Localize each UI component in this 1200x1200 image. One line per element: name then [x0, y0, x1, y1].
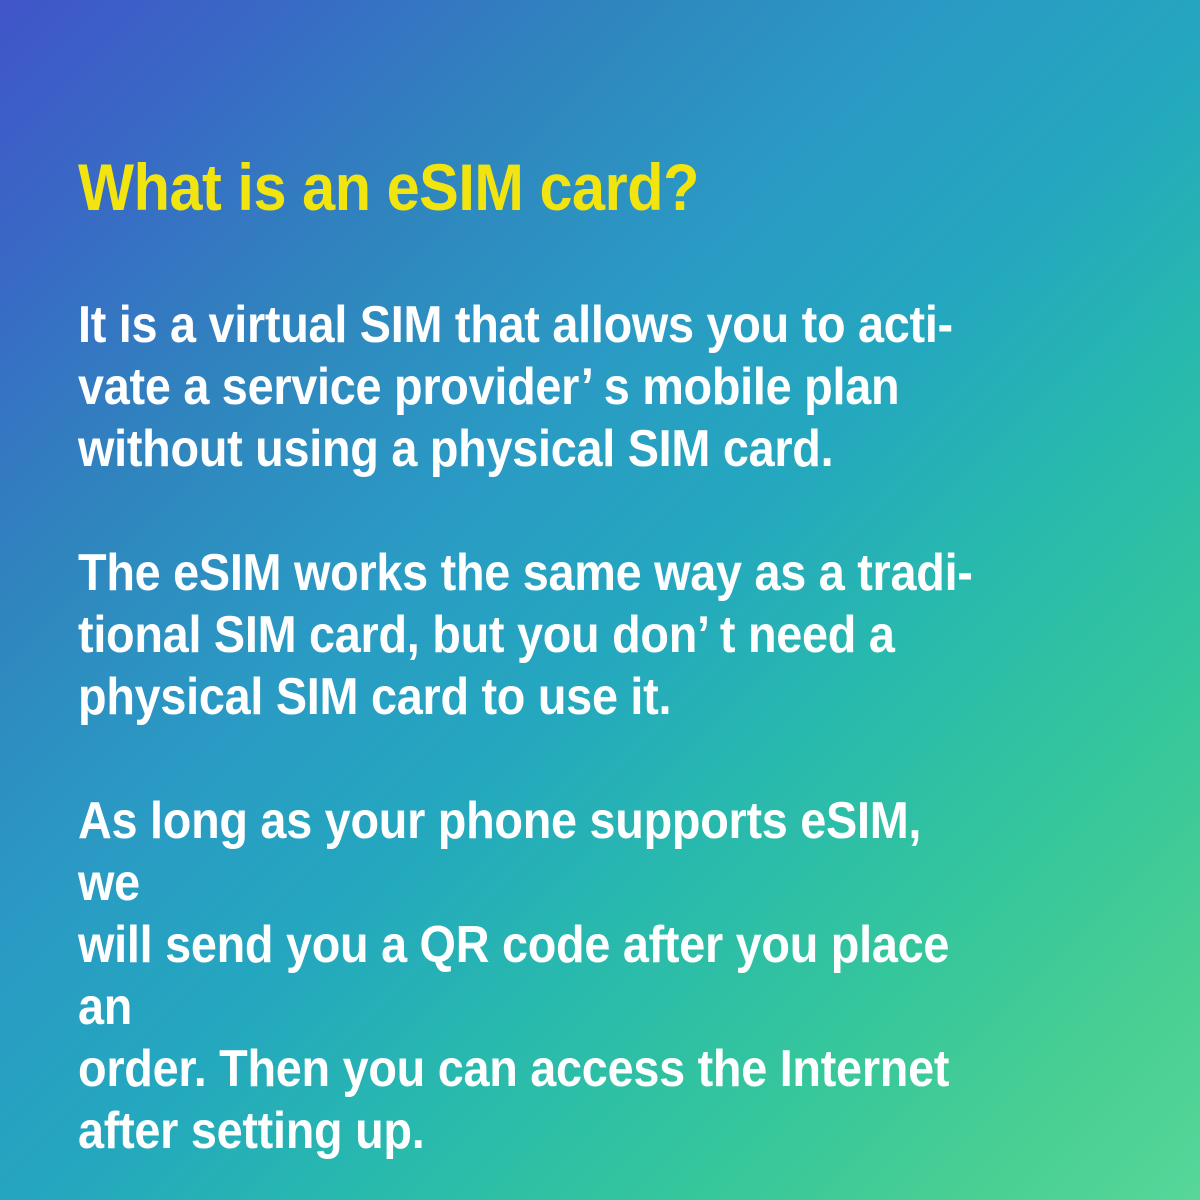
content-container: What is an eSIM card? It is a virtual SI…: [78, 148, 1088, 1162]
paragraph-definition: It is a virtual SIM that allows you to a…: [78, 294, 987, 480]
paragraph-activation: As long as your phone supports eSIM, we …: [78, 790, 987, 1162]
paragraph-how-it-works: The eSIM works the same way as a tradi- …: [78, 542, 987, 728]
esim-info-card: What is an eSIM card? It is a virtual SI…: [0, 0, 1200, 1200]
body-paragraphs: It is a virtual SIM that allows you to a…: [78, 294, 1088, 1162]
page-title: What is an eSIM card?: [78, 148, 987, 226]
